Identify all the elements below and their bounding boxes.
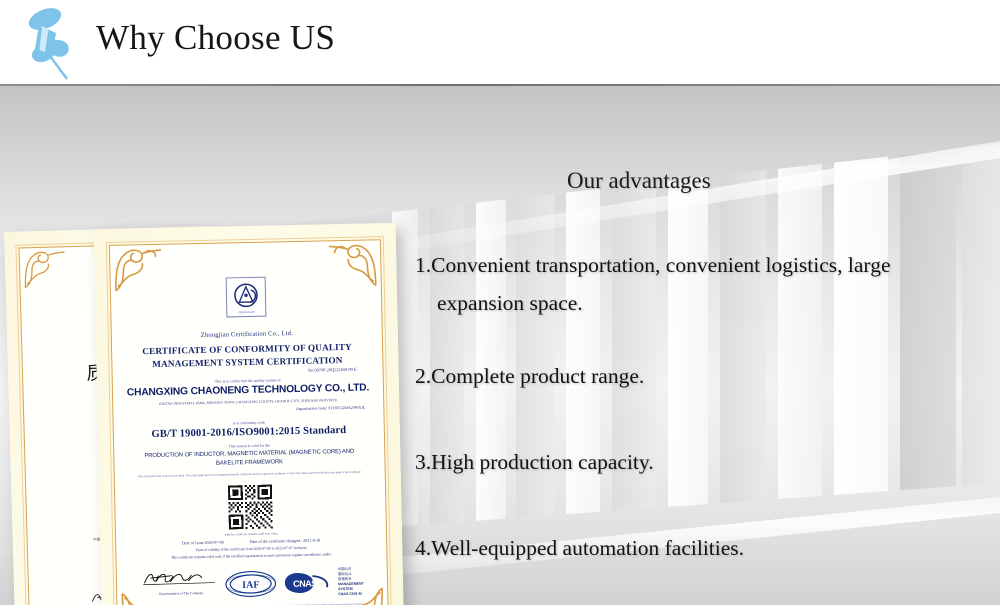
- certificate-iso9001: ZHONGJIAN Zhongjian Certification Co., L…: [94, 223, 405, 605]
- advantage-item: 1.Convenient transportation, convenient …: [415, 246, 990, 323]
- cnas-logo-icon: CNAS: [283, 569, 331, 596]
- cnas-line5: CNAS C601-M: [338, 592, 361, 596]
- corridor-background: 质量 中国认证认可监督管理委员会 公司代表 盖章: [0, 86, 1000, 605]
- page-header: Why Choose US: [0, 0, 1000, 86]
- advantage-item: 4.Well-equipped automation facilities.: [415, 529, 744, 567]
- certificate-scope: PRODUCTION OF INDUCTOR, MAGNETIC MATERIA…: [114, 447, 384, 470]
- pushpin-icon: [18, 6, 80, 82]
- filigree-corner-icon: [111, 246, 164, 293]
- advantage-4-line1: 4.Well-equipped automation facilities.: [415, 536, 744, 560]
- filigree-corner-icon: [327, 241, 380, 288]
- advantage-1-line2: expansion space.: [415, 284, 990, 322]
- svg-text:CNAS: CNAS: [293, 578, 317, 589]
- iaf-logo-icon: IAF: [225, 569, 277, 598]
- svg-text:IAF: IAF: [242, 580, 259, 591]
- advantage-item: 2.Complete product range.: [415, 357, 644, 395]
- certificate-date-of-issue: Date of issue:2020-07-08: [182, 540, 224, 546]
- why-choose-us-banner: Why Choose US: [0, 0, 1000, 605]
- cnas-accreditation-text: 中国认可 国际互认 管理体系 MANAGEMENT SYSTEM CNAS C6…: [338, 566, 378, 597]
- certificate-date-changed: Date of the certificate changed : 2021-8…: [250, 538, 321, 544]
- certificate-fine-note: This certificate only issues for the lis…: [115, 469, 385, 479]
- cnas-line2: 国际互认: [338, 572, 352, 576]
- certificate-signature-block: Representative of The Company: [135, 568, 228, 596]
- emblem-caption: ZHONGJIAN: [227, 311, 265, 315]
- cnas-line4: MANAGEMENT SYSTEM: [338, 581, 364, 591]
- certifier-emblem-icon: ZHONGJIAN: [226, 277, 267, 318]
- signature-caption: Representative of The Company: [135, 590, 227, 596]
- page-title: Why Choose US: [96, 18, 335, 58]
- cnas-line3: 管理体系: [338, 577, 352, 581]
- certificate-issuer: Zhongjian Certification Co., Ltd.: [112, 328, 382, 341]
- advantage-item: 3.High production capacity.: [415, 443, 654, 481]
- cnas-line1: 中国认可: [338, 567, 352, 571]
- advantages-section: Our advantages 1.Convenient transportati…: [415, 86, 1000, 605]
- qr-code: [228, 485, 273, 530]
- advantage-1-line1: 1.Convenient transportation, convenient …: [415, 253, 891, 277]
- certificate-frame: ZHONGJIAN Zhongjian Certification Co., L…: [109, 239, 389, 605]
- advantages-heading: Our advantages: [567, 168, 711, 194]
- advantage-2-line1: 2.Complete product range.: [415, 364, 644, 388]
- accreditation-logos: IAF CNAS 中国认可 国际互认: [225, 566, 378, 599]
- advantage-3-line1: 3.High production capacity.: [415, 450, 654, 474]
- filigree-corner-icon: [21, 248, 68, 289]
